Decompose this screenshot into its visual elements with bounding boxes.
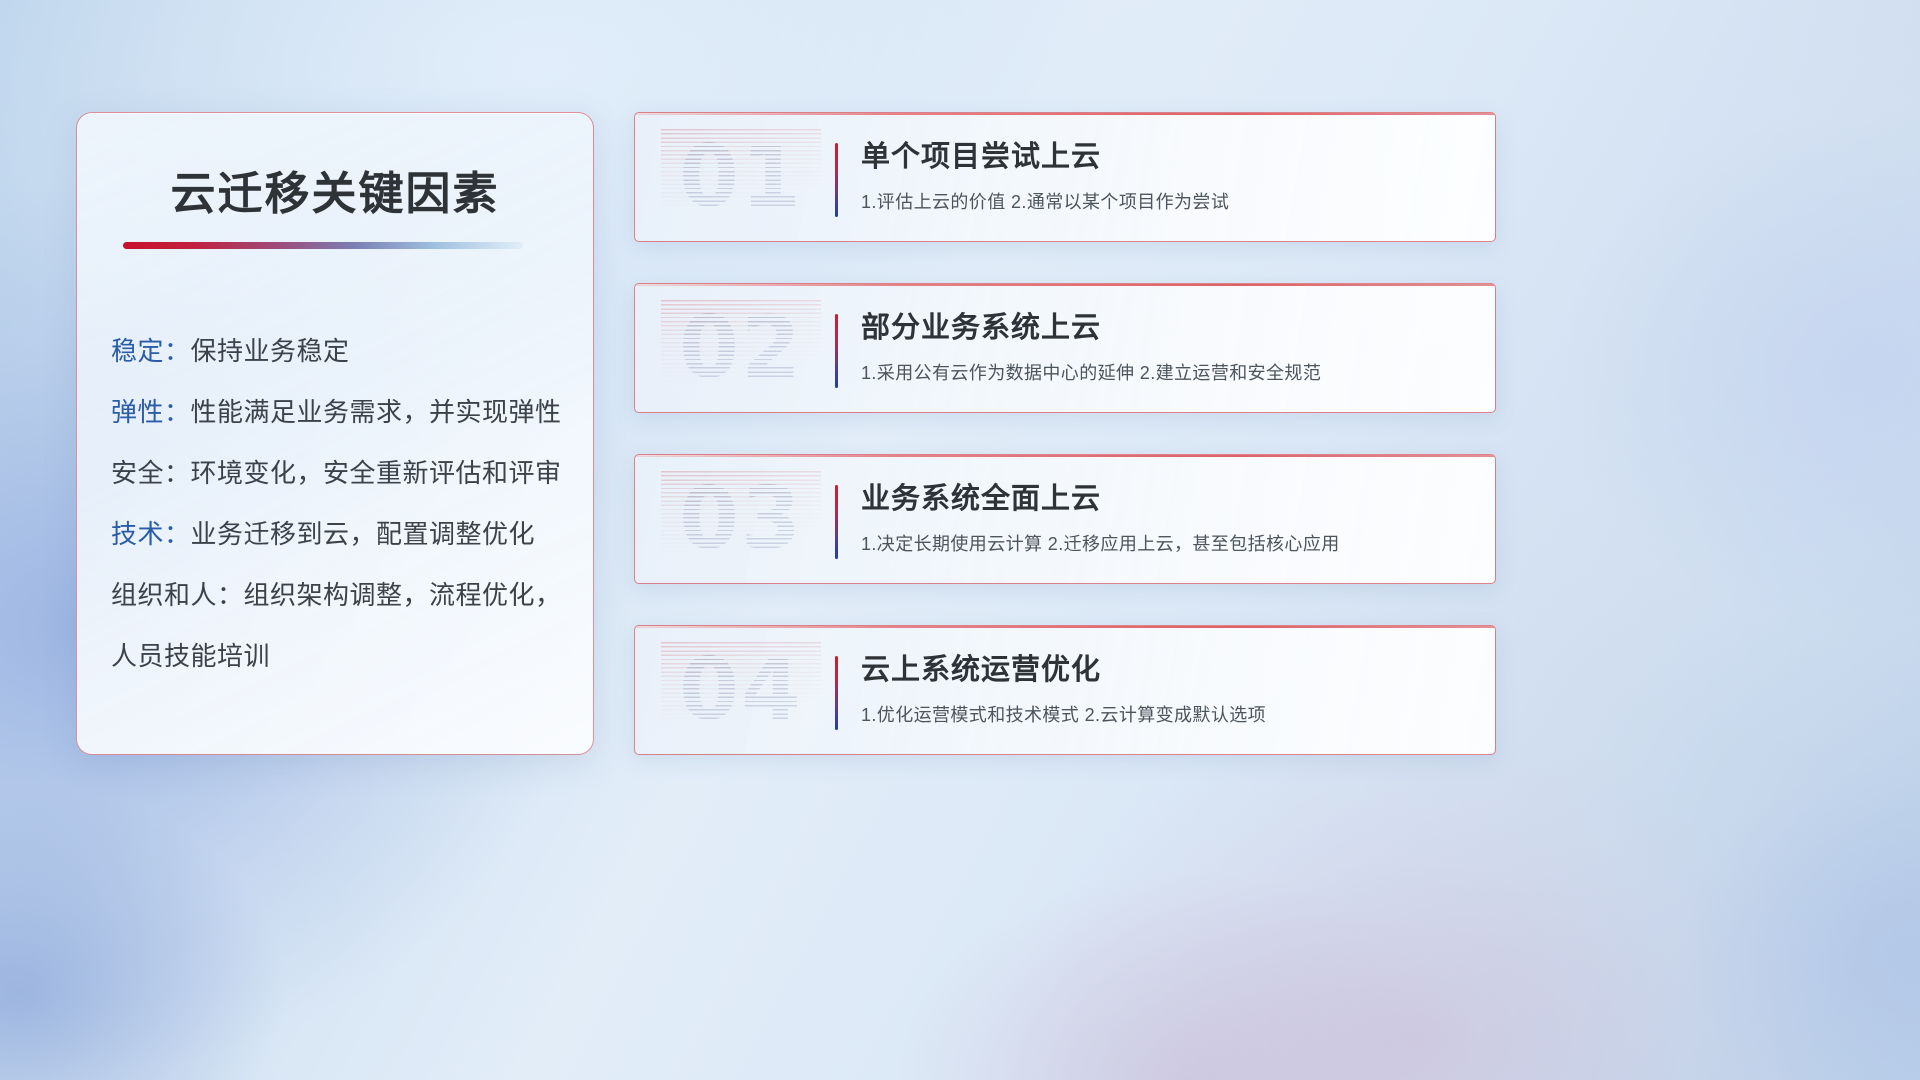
step-divider-accent <box>835 485 838 559</box>
step-card-body: 业务系统全面上云 1.决定长期使用云计算 2.迁移应用上云，甚至包括核心应用 <box>861 479 1475 557</box>
list-item: 组织和人：组织架构调整，流程优化， <box>111 565 581 626</box>
step-heading: 云上系统运营优化 <box>861 650 1475 690</box>
step-number-watermark: 02 <box>661 300 821 396</box>
key-factors-panel: 云迁移关键因素 稳定：保持业务稳定 弹性：性能满足业务需求，并实现弹性 安全：环… <box>76 112 594 755</box>
step-heading: 业务系统全面上云 <box>861 479 1475 519</box>
factor-text: 组织架构调整，流程优化， <box>244 580 562 610</box>
step-number-watermark: 04 <box>661 642 821 738</box>
step-heading: 单个项目尝试上云 <box>861 137 1475 177</box>
factor-text: 环境变化，安全重新评估和评审 <box>191 458 562 488</box>
step-card-02[interactable]: 02 部分业务系统上云 1.采用公有云作为数据中心的延伸 2.建立运营和安全规范 <box>634 283 1496 413</box>
step-card-body: 单个项目尝试上云 1.评估上云的价值 2.通常以某个项目作为尝试 <box>861 137 1475 215</box>
page-title: 云迁移关键因素 <box>77 157 593 222</box>
list-item: 安全：环境变化，安全重新评估和评审 <box>111 443 581 504</box>
step-card-03[interactable]: 03 业务系统全面上云 1.决定长期使用云计算 2.迁移应用上云，甚至包括核心应… <box>634 454 1496 584</box>
factor-text: 性能满足业务需求，并实现弹性 <box>191 397 562 427</box>
step-card-04[interactable]: 04 云上系统运营优化 1.优化运营模式和技术模式 2.云计算变成默认选项 <box>634 625 1496 755</box>
factor-label: 安全： <box>111 458 191 488</box>
step-description: 1.优化运营模式和技术模式 2.云计算变成默认选项 <box>861 702 1475 728</box>
step-card-01[interactable]: 01 单个项目尝试上云 1.评估上云的价值 2.通常以某个项目作为尝试 <box>634 112 1496 242</box>
factor-label: 稳定： <box>111 336 191 366</box>
step-description: 1.决定长期使用云计算 2.迁移应用上云，甚至包括核心应用 <box>861 531 1475 557</box>
factor-label: 弹性： <box>111 397 191 427</box>
step-description: 1.评估上云的价值 2.通常以某个项目作为尝试 <box>861 189 1475 215</box>
step-divider-accent <box>835 314 838 388</box>
step-heading: 部分业务系统上云 <box>861 308 1475 348</box>
factor-text: 业务迁移到云，配置调整优化 <box>191 519 536 549</box>
factor-list: 稳定：保持业务稳定 弹性：性能满足业务需求，并实现弹性 安全：环境变化，安全重新… <box>111 321 581 687</box>
factor-label: 组织和人： <box>111 580 244 610</box>
title-underline-accent <box>123 242 523 249</box>
list-item: 技术：业务迁移到云，配置调整优化 <box>111 504 581 565</box>
factor-text: 人员技能培训 <box>111 641 270 671</box>
step-number-watermark: 01 <box>661 129 821 225</box>
migration-steps-column: 01 单个项目尝试上云 1.评估上云的价值 2.通常以某个项目作为尝试 02 部… <box>634 112 1496 796</box>
list-item: 弹性：性能满足业务需求，并实现弹性 <box>111 382 581 443</box>
list-item: 人员技能培训 <box>111 626 581 687</box>
step-card-body: 部分业务系统上云 1.采用公有云作为数据中心的延伸 2.建立运营和安全规范 <box>861 308 1475 386</box>
factor-text: 保持业务稳定 <box>191 336 350 366</box>
list-item: 稳定：保持业务稳定 <box>111 321 581 382</box>
step-number-watermark: 03 <box>661 471 821 567</box>
step-divider-accent <box>835 143 838 217</box>
step-divider-accent <box>835 656 838 730</box>
step-description: 1.采用公有云作为数据中心的延伸 2.建立运营和安全规范 <box>861 360 1475 386</box>
factor-label: 技术： <box>111 519 191 549</box>
step-card-body: 云上系统运营优化 1.优化运营模式和技术模式 2.云计算变成默认选项 <box>861 650 1475 728</box>
